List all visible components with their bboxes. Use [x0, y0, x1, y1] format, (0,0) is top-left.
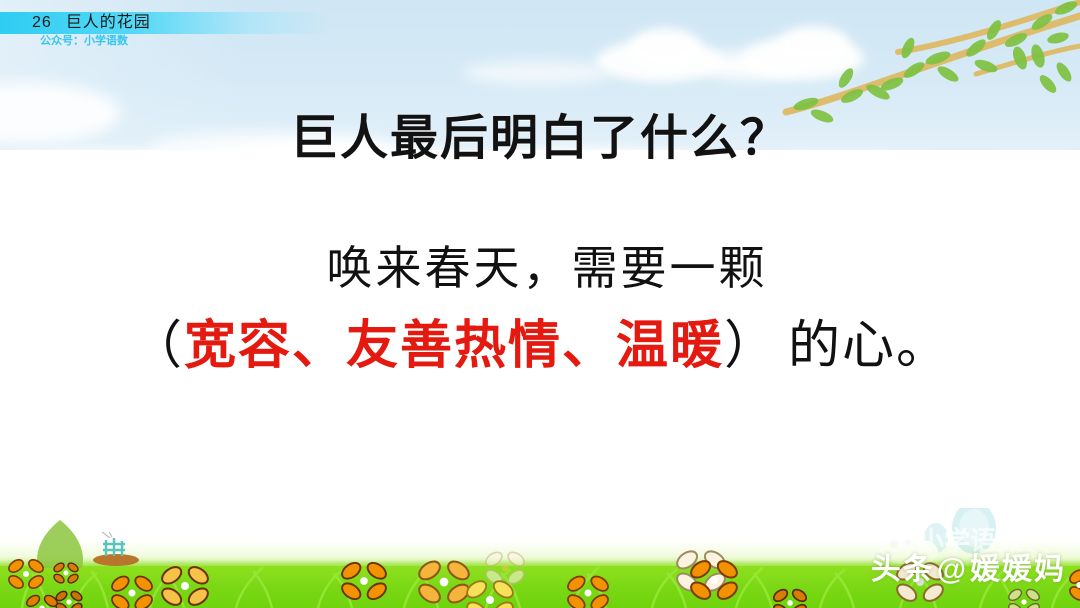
question-text: 巨人最后明白了什么？	[0, 98, 1080, 168]
answer-line-2: （宽容、友善热情、温暖）的心。	[0, 308, 1080, 386]
flower-icon	[6, 556, 46, 597]
flower-icon	[158, 562, 212, 608]
answer-highlight: 宽容、友善热情、温暖	[184, 318, 724, 375]
answer-line-1: 唤来春天，需要一颗	[0, 238, 1080, 300]
watermark-account: 媛媛妈	[970, 553, 1066, 586]
flower-icon	[564, 572, 612, 608]
fence-icon	[92, 550, 134, 566]
watermark-brand: 头条	[871, 553, 935, 586]
flower-icon	[338, 558, 390, 608]
answer-block: 唤来春天，需要一颗 （宽容、友善热情、温暖）的心。	[0, 238, 1080, 386]
slide-canvas: 26巨人的花园 公众号：小学语数 巨人最后明白了什么？ 唤来春天，需要一颗 （宽…	[0, 0, 1080, 608]
answer-tail: 的心。	[788, 318, 950, 375]
flower-icon	[54, 588, 84, 608]
flower-icon	[1006, 586, 1042, 608]
flower-icon	[108, 572, 156, 608]
page-title: 26巨人的花园	[32, 11, 151, 35]
cloud-icon	[628, 28, 702, 68]
open-paren: （	[130, 318, 184, 375]
watermark-at: @	[937, 553, 968, 586]
watermark-text: 头条@媛媛妈	[871, 544, 1066, 588]
flower-icon	[52, 560, 80, 591]
header-subtitle: 公众号：小学语数	[40, 33, 128, 50]
lesson-title: 巨人的花园	[66, 14, 151, 31]
lesson-number: 26	[32, 14, 52, 31]
flower-icon	[1066, 566, 1080, 608]
flower-icon	[686, 556, 742, 608]
flower-icon	[462, 576, 518, 608]
close-paren: ）	[724, 318, 778, 375]
flower-icon	[770, 586, 810, 608]
cloud-icon	[462, 62, 612, 84]
